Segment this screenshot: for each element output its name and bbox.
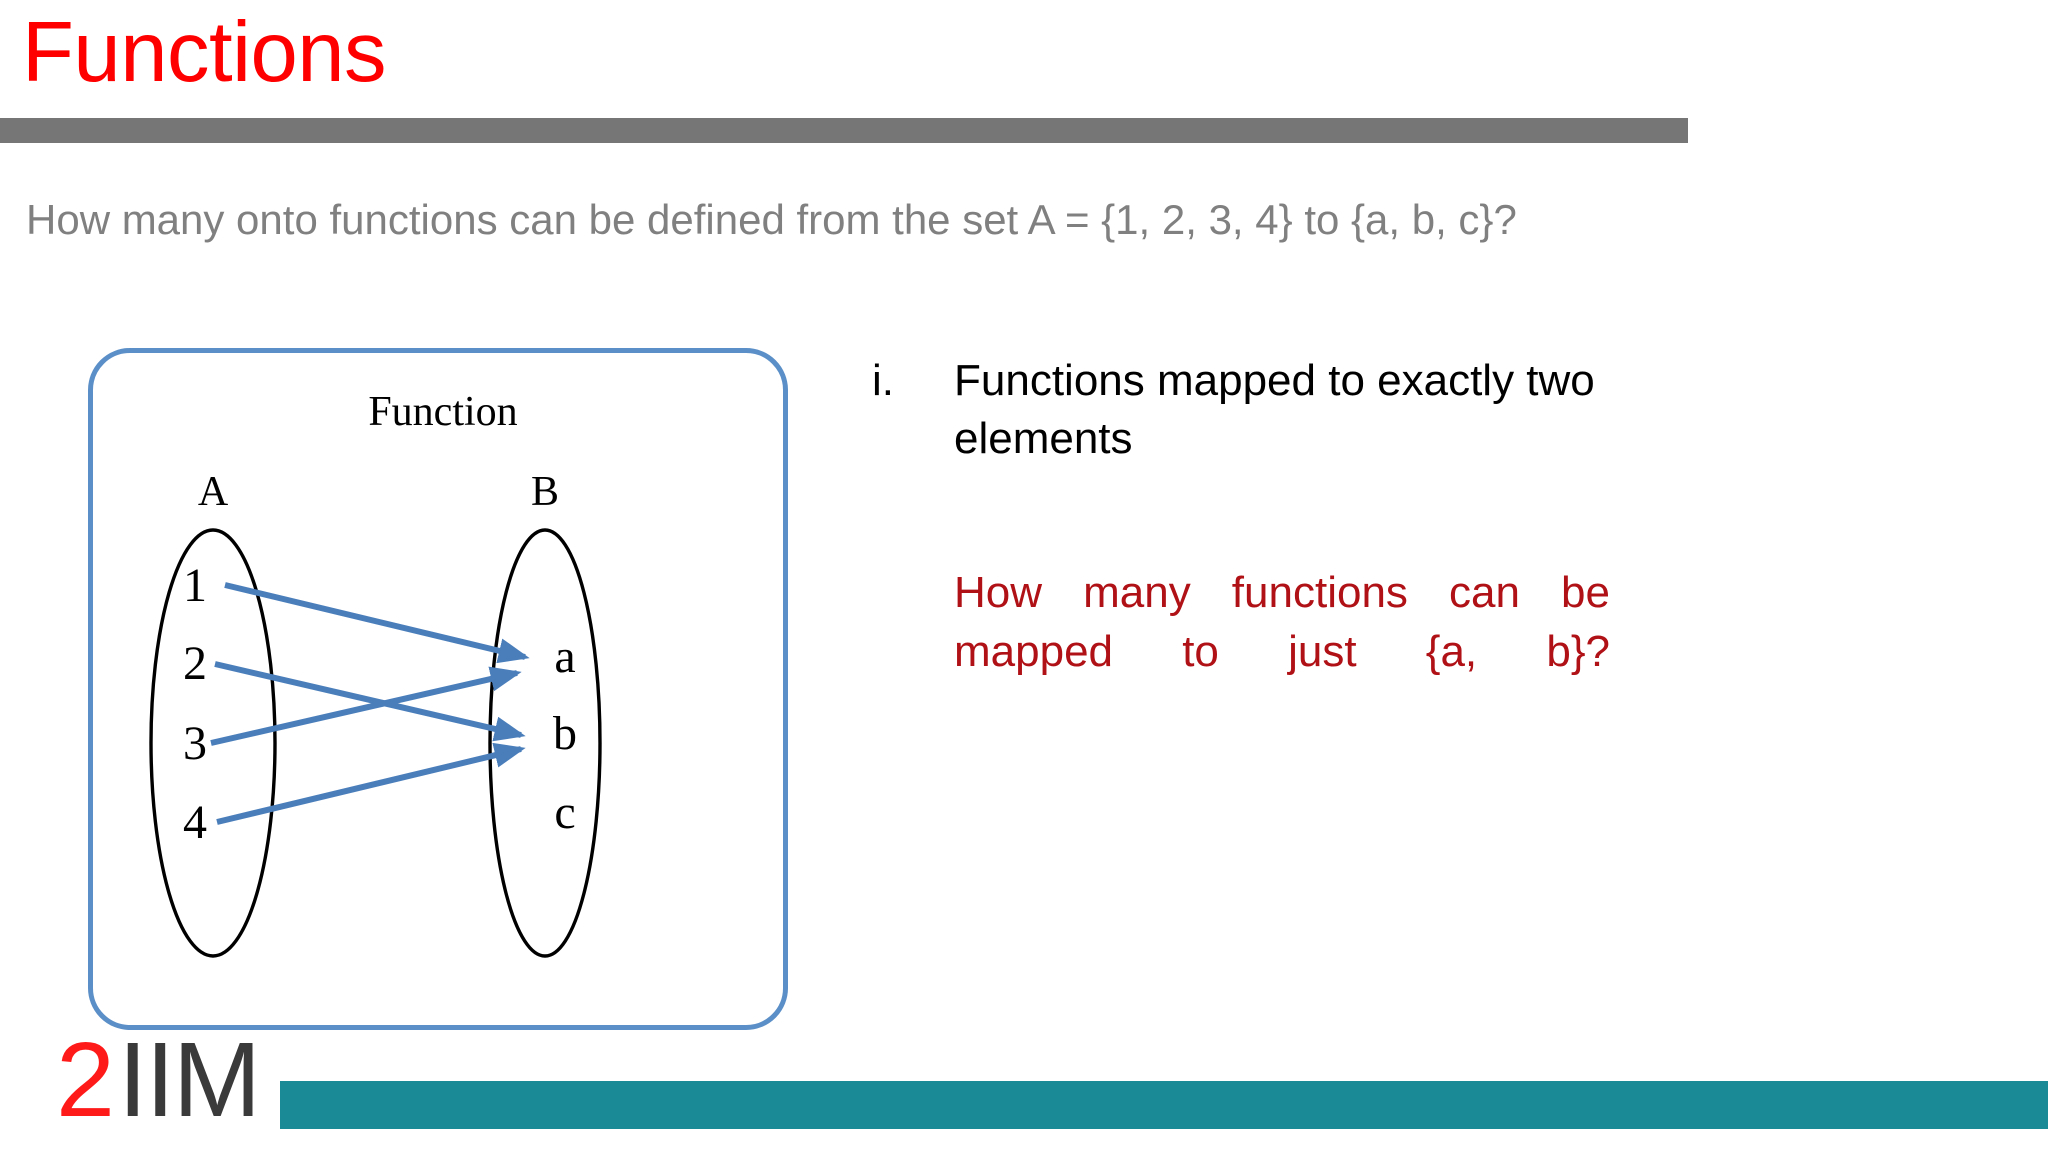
right-content-column: i. Functions mapped to exactly two eleme… <box>872 352 1692 741</box>
set-b-element: b <box>553 707 577 760</box>
set-b-ellipse <box>490 530 600 956</box>
set-a-label: A <box>198 469 229 515</box>
footer-accent-bar <box>280 1081 2048 1129</box>
set-b-label: B <box>531 469 559 515</box>
mapping-arrow-2-b <box>215 664 521 735</box>
list-item: i. Functions mapped to exactly two eleme… <box>872 352 1692 468</box>
mapping-arrow-3-a <box>211 673 517 743</box>
set-a-element: 3 <box>183 717 207 770</box>
set-a-element: 2 <box>183 637 207 690</box>
list-item-marker: i. <box>872 352 954 410</box>
page-title: Functions <box>22 8 386 97</box>
list-item-label: Functions mapped to exactly two elements <box>954 352 1692 468</box>
function-diagram-frame: Function A B 1 2 3 4 a b c <box>88 348 788 1030</box>
brand-logo: 2 IIM <box>56 1030 256 1128</box>
set-a-element: 4 <box>183 796 207 849</box>
set-b-element: c <box>554 786 575 839</box>
set-a-element: 1 <box>183 559 207 612</box>
mapping-arrow-4-b <box>217 749 521 822</box>
logo-wordmark: IIM <box>118 1030 256 1128</box>
diagram-caption: Function <box>368 389 517 435</box>
highlight-question: How many functions can be mapped to just… <box>872 564 1610 741</box>
question-prompt: How many onto functions can be defined f… <box>26 192 1666 249</box>
set-b-element: a <box>554 630 575 683</box>
title-divider-bar <box>0 118 1688 143</box>
function-mapping-diagram: Function A B 1 2 3 4 a b c <box>93 353 793 1035</box>
logo-digit: 2 <box>56 1030 115 1128</box>
